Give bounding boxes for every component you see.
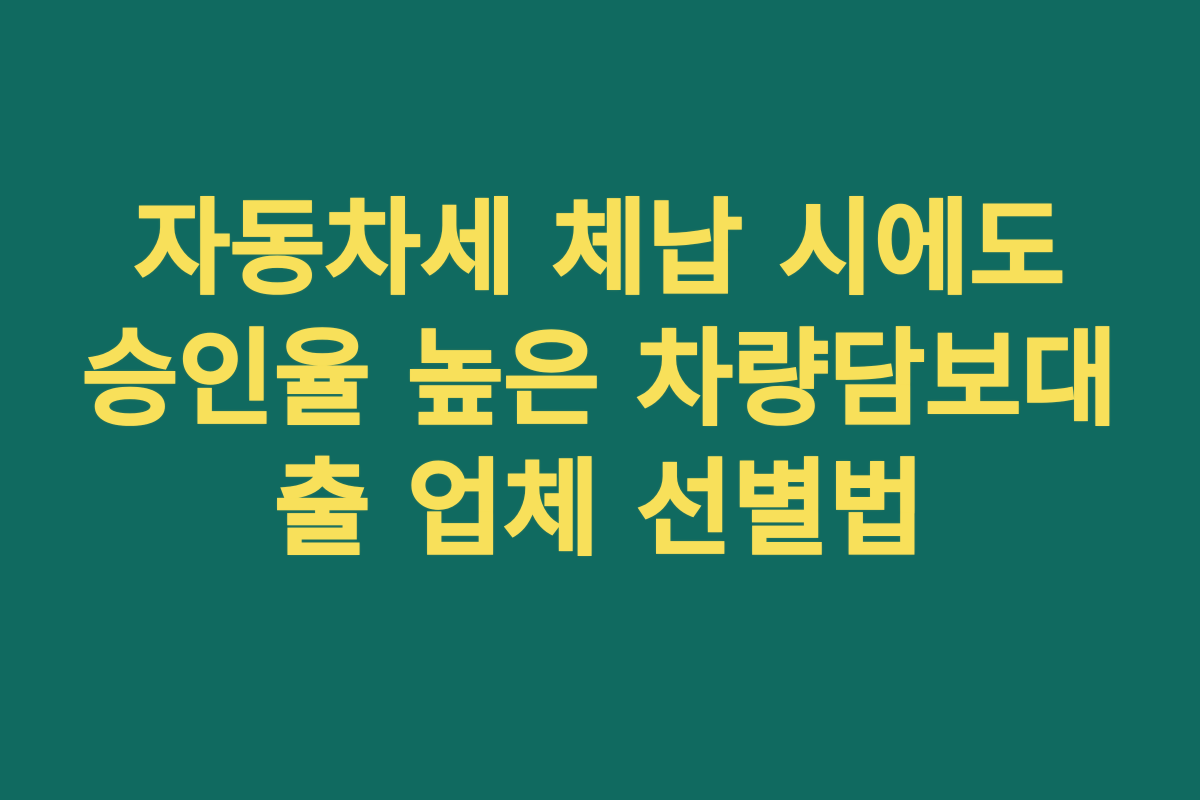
headline-line-2: 승인율 높은 차량담보대 [50,314,1150,444]
headline-block: 자동차세 체납 시에도 승인율 높은 차량담보대 출 업체 선별법 [50,184,1150,574]
headline-line-3: 출 업체 선별법 [50,444,1150,574]
thumbnail-card: 자동차세 체납 시에도 승인율 높은 차량담보대 출 업체 선별법 [0,0,1200,800]
headline-line-1: 자동차세 체납 시에도 [50,184,1150,314]
